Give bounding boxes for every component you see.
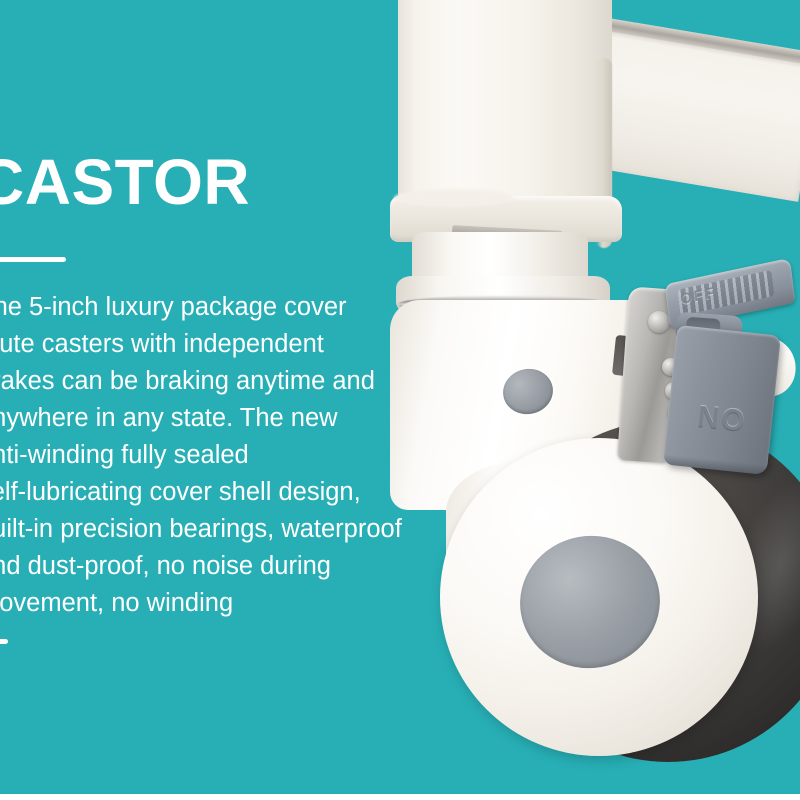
body-description: The 5-inch luxury package cover mute cas…	[0, 289, 398, 622]
body-line: built-in precision bearings, waterproof	[0, 511, 398, 548]
body-line: The 5-inch luxury package cover	[0, 289, 398, 326]
body-line: mute casters with independent	[0, 326, 398, 363]
brake-engage-pedal[interactable]: ON	[663, 325, 781, 475]
beam-top-edge	[594, 16, 800, 67]
divider-top	[0, 257, 66, 262]
body-line: and dust-proof, no noise during	[0, 548, 398, 585]
canvas-bottom-margin	[0, 794, 800, 800]
pedal-on-label: ON	[694, 397, 746, 436]
brake-bolt-icon	[648, 311, 670, 333]
body-line: self-lubricating cover shell design,	[0, 474, 398, 511]
body-line: anti-winding fully sealed	[0, 437, 398, 474]
body-line: movement, no winding	[0, 585, 398, 622]
body-line: anywhere in any state. The new	[0, 400, 398, 437]
product-banner: OFF ON CASTOR The 5-inch luxury package …	[0, 0, 800, 800]
text-panel: CASTOR The 5-inch luxury package cover m…	[0, 150, 408, 644]
divider-bottom	[0, 639, 8, 644]
body-line: brakes can be braking anytime and	[0, 363, 398, 400]
page-title: CASTOR	[0, 150, 408, 214]
